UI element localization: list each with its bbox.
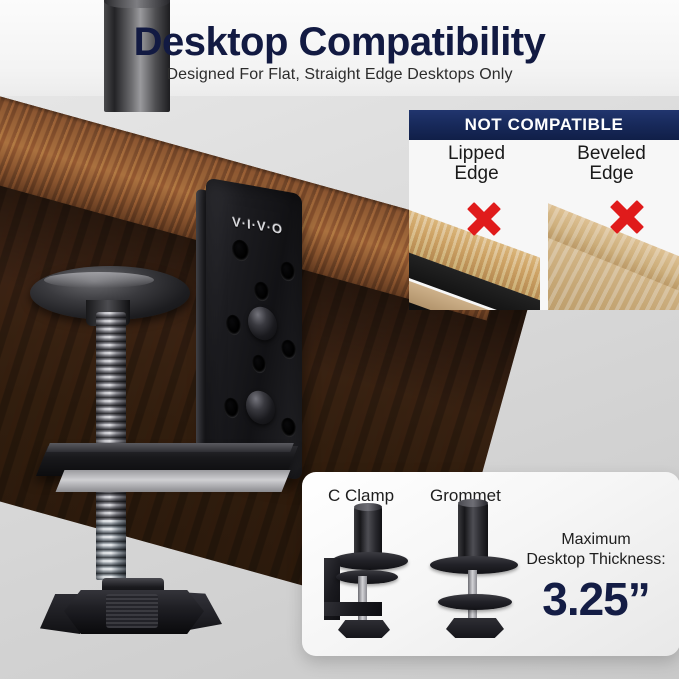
figure-divider <box>540 196 548 310</box>
label-line-1: Lipped <box>409 144 544 164</box>
page-title: Desktop Compatibility <box>0 20 679 65</box>
monitor-pole-cap <box>104 0 170 8</box>
lipped-edge-figure <box>409 196 540 310</box>
grommet-wing-knob <box>446 618 504 638</box>
mount-pole-cap <box>458 499 488 507</box>
clamp-pad-highlight <box>44 272 154 288</box>
threaded-screw-lower <box>96 520 126 580</box>
label-line-2: Edge <box>544 164 679 184</box>
not-compatible-panel: NOT COMPATIBLE Lipped Edge Beveled Edge <box>409 110 679 310</box>
mount-top-disc <box>332 552 408 570</box>
red-x-icon <box>610 200 644 234</box>
clamp-wing-knob <box>338 620 390 638</box>
clamp-lower-arm-underside <box>56 470 291 492</box>
not-compatible-figures <box>409 196 679 310</box>
max-thickness-label: Maximum Desktop Thickness: <box>520 530 672 570</box>
not-compatible-header: NOT COMPATIBLE <box>409 110 679 140</box>
page-subtitle: Designed For Flat, Straight Edge Desktop… <box>0 66 679 84</box>
grommet-lower-disc <box>438 594 512 610</box>
clamp-bracket-bottom <box>324 602 382 616</box>
mount-pole <box>458 502 488 564</box>
infographic-canvas: Desktop Compatibility Designed For Flat,… <box>0 0 679 679</box>
label-line-2: Edge <box>409 164 544 184</box>
mount-second-disc <box>336 570 398 584</box>
beveled-edge-figure <box>548 196 679 310</box>
mount-pole-cap <box>354 503 382 511</box>
wing-knob <box>36 578 224 636</box>
beveled-edge-label: Beveled Edge <box>544 142 679 198</box>
mount-options-panel: C Clamp Grommet Maximum Desktop Thicknes… <box>302 472 679 656</box>
red-x-icon <box>467 202 501 236</box>
lipped-edge-label: Lipped Edge <box>409 142 544 198</box>
max-thickness-line-1: Maximum <box>520 530 672 550</box>
knob-grip-texture <box>106 594 158 628</box>
label-line-1: Beveled <box>544 144 679 164</box>
max-thickness-line-2: Desktop Thickness: <box>520 550 672 570</box>
clamp-shaft <box>358 576 367 624</box>
clamp-lower-arm-top <box>46 443 294 452</box>
not-compatible-labels: Lipped Edge Beveled Edge <box>409 142 679 198</box>
max-thickness-value: 3.25” <box>520 572 672 626</box>
